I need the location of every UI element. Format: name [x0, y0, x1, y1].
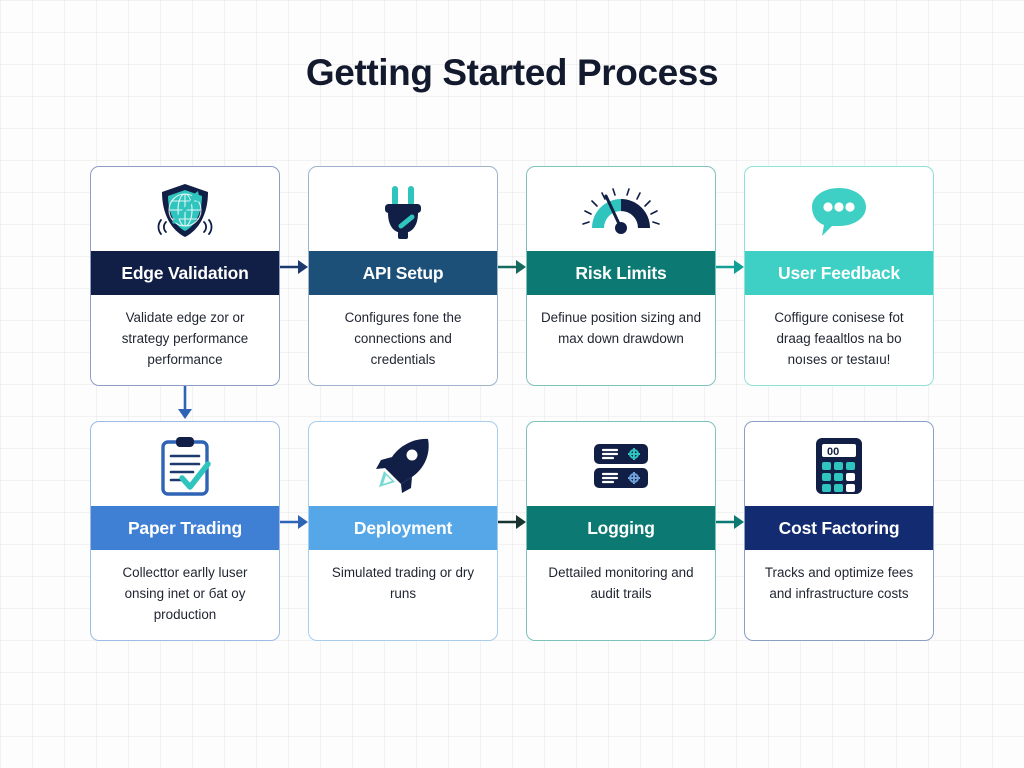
- card-description-user-feedback: Coffigure conisese fot draag feaaltlos n…: [745, 295, 933, 385]
- power-plug-icon: [309, 167, 497, 251]
- card-description-api-setup: Configures fone the connections and cred…: [309, 295, 497, 385]
- calculator-display-value: 00: [827, 446, 839, 458]
- clipboard-check-icon: [91, 422, 279, 506]
- process-card-api-setup[interactable]: API Setup Configures fone the connection…: [308, 166, 498, 386]
- card-description-logging: Dettailed monitoring and audit trails: [527, 550, 715, 640]
- gauge-icon: [527, 167, 715, 251]
- connector-edge-validation-to-paper-trading: [176, 383, 194, 419]
- speech-bubble-icon: [745, 167, 933, 251]
- process-card-edge-validation[interactable]: Edge Validation Validate edge zor or str…: [90, 166, 280, 386]
- shield-globe-arrow-icon: [91, 167, 279, 251]
- process-card-paper-trading[interactable]: Paper Trading Collecttor earlly luser on…: [90, 421, 280, 641]
- process-card-user-feedback[interactable]: User Feedback Coffigure conisese fot dra…: [744, 166, 934, 386]
- page-title: Getting Started Process: [0, 52, 1024, 94]
- card-description-cost-factoring: Tracks and optimize fees and infrastruct…: [745, 550, 933, 640]
- card-title-cost-factoring: Cost Factoring: [745, 506, 933, 550]
- process-card-deployment[interactable]: Deployment Simulated trading or dry runs: [308, 421, 498, 641]
- process-card-risk-limits[interactable]: Risk Limits Definue position sizing and …: [526, 166, 716, 386]
- card-description-edge-validation: Validate edge zor or strategy performanc…: [91, 295, 279, 385]
- calculator-icon: 00: [745, 422, 933, 506]
- process-card-logging[interactable]: Logging Dettailed monitoring and audit t…: [526, 421, 716, 641]
- rocket-icon: [309, 422, 497, 506]
- card-description-deployment: Simulated trading or dry runs: [309, 550, 497, 640]
- card-title-risk-limits: Risk Limits: [527, 251, 715, 295]
- card-title-paper-trading: Paper Trading: [91, 506, 279, 550]
- card-description-risk-limits: Definue position sizing and max down dra…: [527, 295, 715, 385]
- card-title-edge-validation: Edge Validation: [91, 251, 279, 295]
- card-title-logging: Logging: [527, 506, 715, 550]
- card-title-user-feedback: User Feedback: [745, 251, 933, 295]
- process-card-cost-factoring[interactable]: 00 Cost Factoring Tracks and optimize fe…: [744, 421, 934, 641]
- card-title-api-setup: API Setup: [309, 251, 497, 295]
- card-title-deployment: Deployment: [309, 506, 497, 550]
- card-description-paper-trading: Collecttor earlly luser onsing inet or б…: [91, 550, 279, 640]
- diagram-canvas: Getting Started Process: [0, 0, 1024, 768]
- server-logs-icon: [527, 422, 715, 506]
